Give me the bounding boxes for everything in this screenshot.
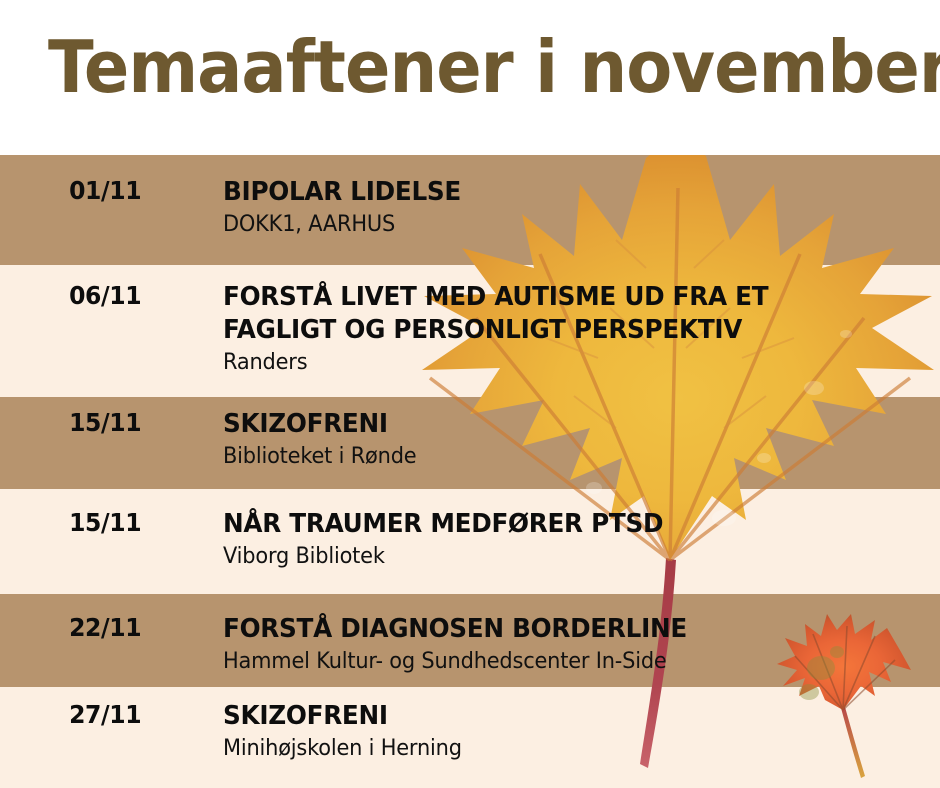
poster-canvas: Temaaftener i november 01/11 BIPOLAR LID… [0, 0, 940, 788]
event-venue: DOKK1, AARHUS [223, 211, 904, 239]
event-body: SKIZOFRENI Biblioteket i Rønde [160, 408, 940, 471]
event-date: 01/11 [10, 176, 160, 206]
page-title: Temaaftener i november [48, 26, 848, 108]
event-venue: Hammel Kultur- og Sundhedscenter In-Side [223, 648, 904, 676]
event-title: FORSTÅ LIVET MED AUTISME UD FRA ET [223, 281, 904, 314]
event-body: BIPOLAR LIDELSE DOKK1, AARHUS [160, 176, 940, 239]
event-date: 15/11 [10, 508, 160, 538]
event-body: FORSTÅ LIVET MED AUTISME UD FRA ET FAGLI… [160, 281, 940, 377]
event-body: FORSTÅ DIAGNOSEN BORDERLINE Hammel Kultu… [160, 613, 940, 676]
event-date: 22/11 [10, 613, 160, 643]
event-row[interactable]: 06/11 FORSTÅ LIVET MED AUTISME UD FRA ET… [0, 281, 940, 377]
event-venue: Randers [223, 349, 904, 377]
event-row[interactable]: 15/11 SKIZOFRENI Biblioteket i Rønde [0, 408, 940, 471]
title-area: Temaaftener i november [0, 0, 940, 155]
event-title: BIPOLAR LIDELSE [223, 176, 904, 209]
event-row[interactable]: 22/11 FORSTÅ DIAGNOSEN BORDERLINE Hammel… [0, 613, 940, 676]
event-title-line-2: FAGLIGT OG PERSONLIGT PERSPEKTIV [223, 314, 904, 347]
event-venue: Minihøjskolen i Herning [223, 735, 904, 763]
event-date: 27/11 [10, 700, 160, 730]
event-body: NÅR TRAUMER MEDFØRER PTSD Viborg Bibliot… [160, 508, 940, 571]
event-date: 15/11 [10, 408, 160, 438]
event-title: SKIZOFRENI [223, 408, 904, 441]
event-title: FORSTÅ DIAGNOSEN BORDERLINE [223, 613, 904, 646]
event-row[interactable]: 27/11 SKIZOFRENI Minihøjskolen i Herning [0, 700, 940, 763]
event-body: SKIZOFRENI Minihøjskolen i Herning [160, 700, 940, 763]
event-venue: Biblioteket i Rønde [223, 443, 904, 471]
event-title: NÅR TRAUMER MEDFØRER PTSD [223, 508, 904, 541]
event-row[interactable]: 01/11 BIPOLAR LIDELSE DOKK1, AARHUS [0, 176, 940, 239]
event-date: 06/11 [10, 281, 160, 311]
event-title: SKIZOFRENI [223, 700, 904, 733]
event-venue: Viborg Bibliotek [223, 543, 904, 571]
event-row[interactable]: 15/11 NÅR TRAUMER MEDFØRER PTSD Viborg B… [0, 508, 940, 571]
